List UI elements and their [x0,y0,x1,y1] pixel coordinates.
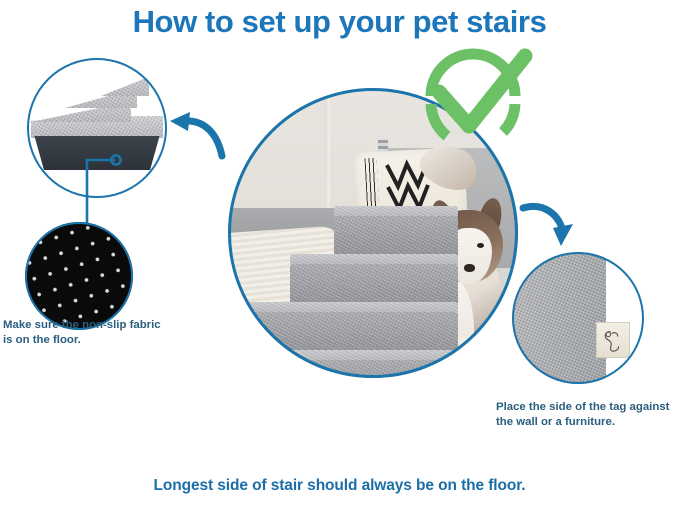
dog-nose [464,264,475,272]
left-caption-line-1: Make sure the non-slip fabric [3,318,193,333]
left-callout-caption: Make sure the non-slip fabric is on the … [3,318,193,348]
dog-eye-right [477,243,484,248]
left-caption-line-2: is on the floor. [3,333,193,348]
stair-step-1-riser [228,360,458,378]
connector-line [55,150,125,230]
stair-side-with-tag-circle [512,252,644,384]
bottom-caption: Longest side of stair should always be o… [0,477,679,495]
infographic-canvas: How to set up your pet stairs [0,0,679,507]
right-caption-line-2: the wall or a furniture. [496,415,679,430]
wall-edge [324,88,330,208]
brand-tag [596,322,630,358]
curved-arrow-left-icon [166,112,228,160]
non-slip-fabric-circle [25,222,133,330]
stairs-foam-step1 [101,72,149,96]
stair-side-fabric [512,252,606,384]
check-icon [417,52,529,148]
right-callout-caption: Place the side of the tag against the wa… [496,400,679,430]
curved-arrow-down-right-icon [517,198,579,250]
dog-tag-logo-icon [597,323,629,357]
page-title: How to set up your pet stairs [0,4,679,40]
non-slip-dots-texture [25,222,133,330]
right-caption-line-1: Place the side of the tag against [496,400,679,415]
